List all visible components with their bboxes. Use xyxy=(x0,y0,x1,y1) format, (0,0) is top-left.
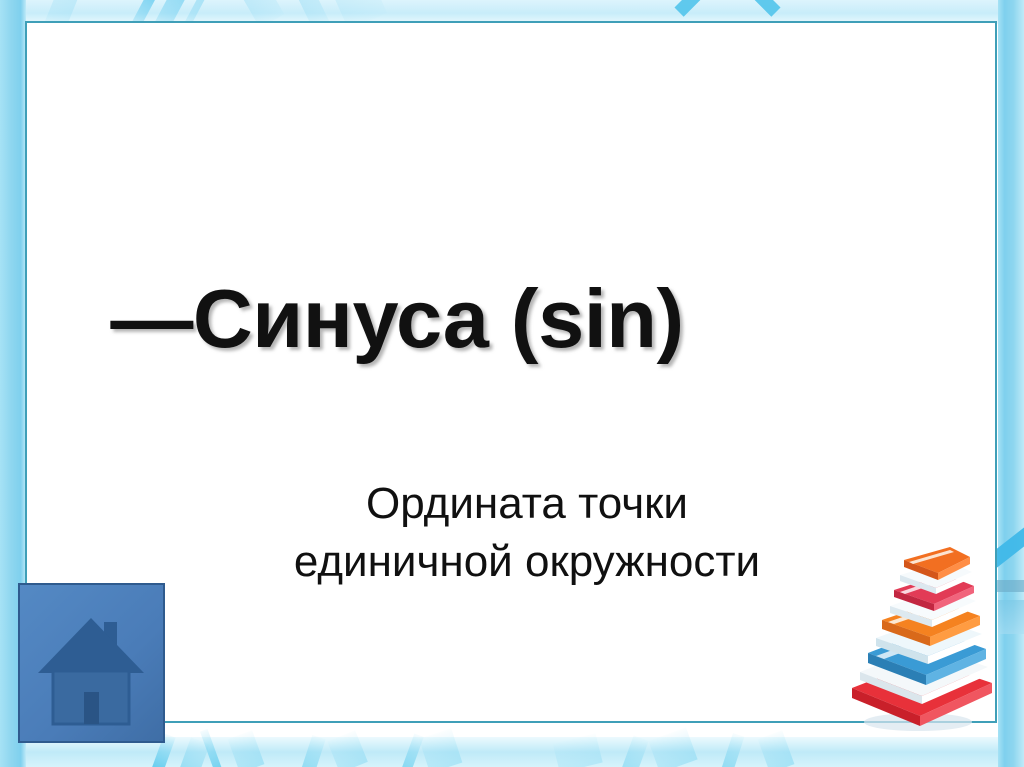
subtitle-line-2: единичной окружности xyxy=(157,533,897,591)
books-illustration xyxy=(846,520,996,735)
right-diagonal-accent xyxy=(998,600,1024,634)
slide-subtitle: Ордината точки единичной окружности xyxy=(157,475,897,591)
home-icon xyxy=(20,585,163,741)
subtitle-line-1: Ордината точки xyxy=(157,475,897,533)
home-button[interactable] xyxy=(18,583,165,743)
presentation-slide: —Синуса (sin) Ордината точки единичной о… xyxy=(0,0,1024,767)
right-decorative-band xyxy=(998,0,1024,767)
slide-title: —Синуса (sin) xyxy=(27,275,767,362)
